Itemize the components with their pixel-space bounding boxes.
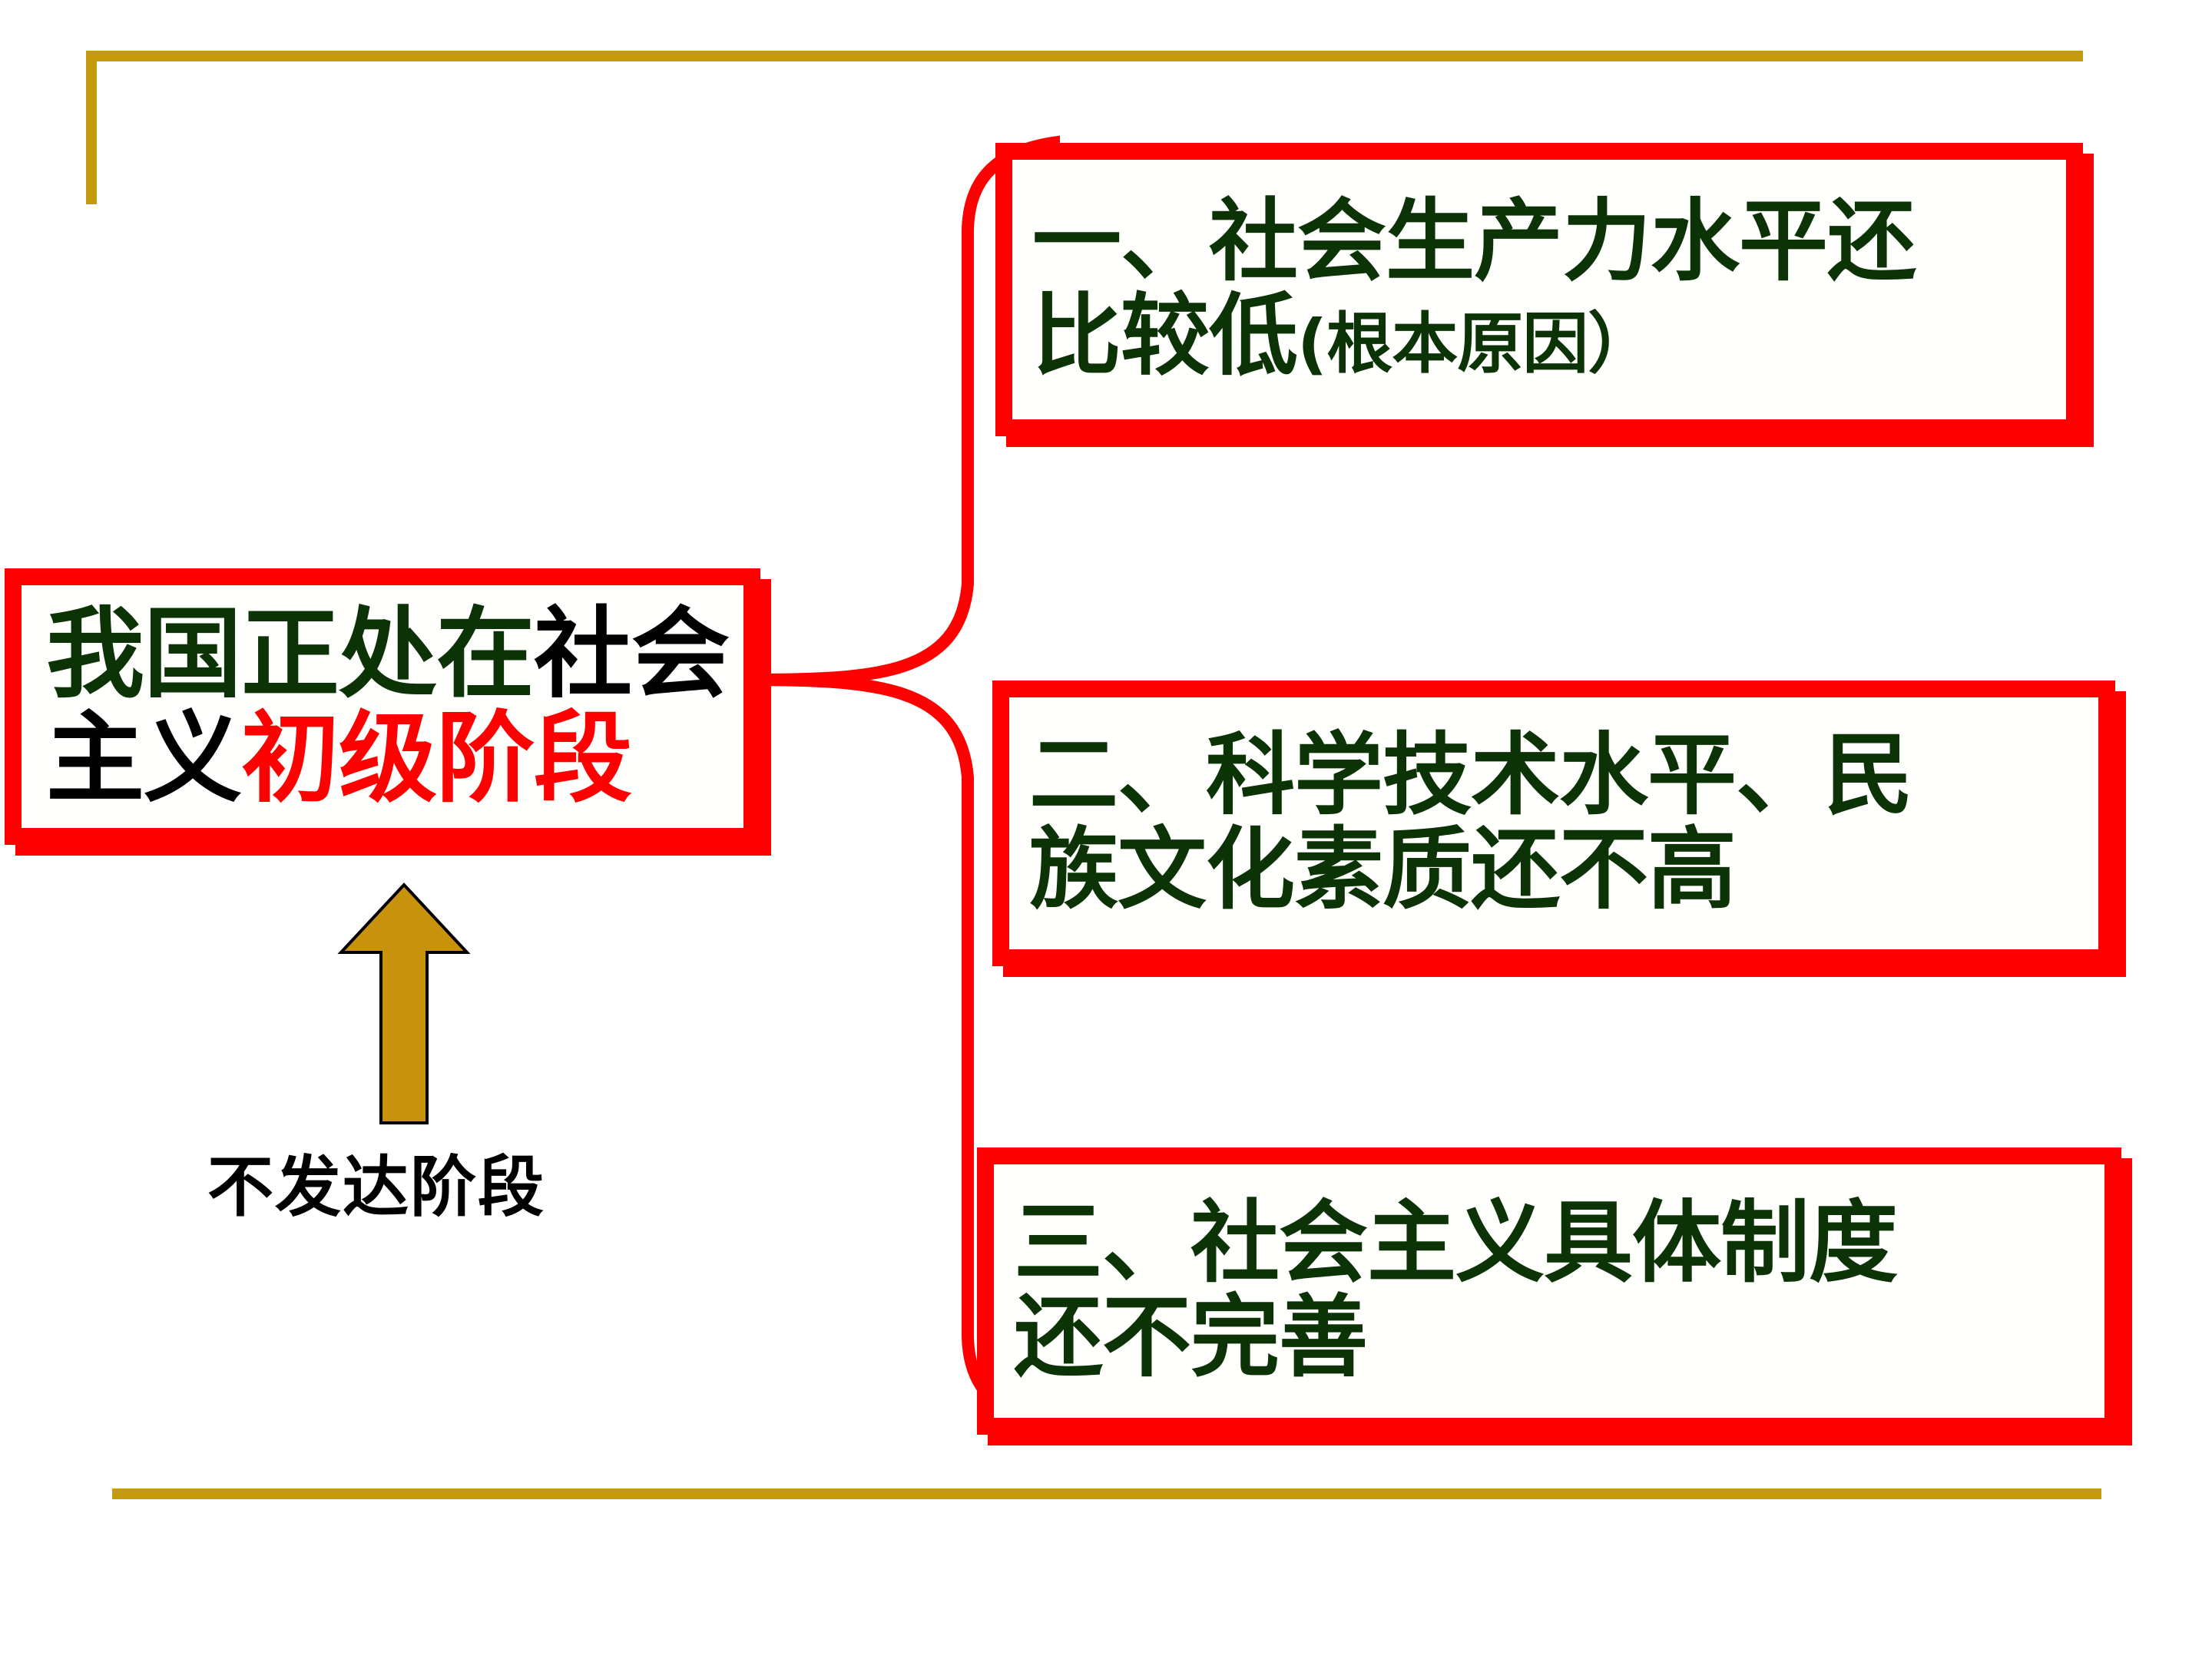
branch-1-line2-main: 比较低 [1032, 284, 1297, 388]
branch-2-line1: 二、科学技术水平、民 [1029, 724, 1912, 827]
slide-canvas: 我国正处在社会主义初级阶段 不发达阶段 一、社会生产力水平还比较低(根本原因） … [0, 0, 2212, 1659]
root-text-segment-green: 我国正处在 [46, 597, 534, 711]
root-text-segment-red: 初级阶段 [241, 701, 631, 816]
gold-top-rule [97, 51, 2083, 61]
root-concept-text: 我国正处在社会主义初级阶段 [46, 602, 733, 810]
branch-3-text: 三、社会主义具体制度还不完善 [1014, 1197, 2094, 1386]
gold-left-rule [86, 51, 97, 204]
up-arrow-icon [336, 882, 472, 1128]
root-text-segment-black-1: 社会 [534, 597, 729, 711]
arrow-caption-label: 不发达阶段 [207, 1133, 637, 1229]
gold-bottom-rule [112, 1488, 2101, 1499]
branch-3-line1: 三、社会主义具体制度 [1014, 1191, 1897, 1295]
root-text-segment-black-2: 主义 [46, 701, 241, 816]
branch-2-text: 二、科学技术水平、民族文化素质还不高 [1029, 729, 2088, 918]
branch-box-2[interactable]: 二、科学技术水平、民族文化素质还不高 [992, 680, 2115, 966]
branch-box-3[interactable]: 三、社会主义具体制度还不完善 [977, 1147, 2121, 1435]
root-concept-box[interactable]: 我国正处在社会主义初级阶段 [5, 568, 760, 845]
branch-1-text: 一、社会生产力水平还比较低(根本原因） [1032, 195, 2055, 384]
branch-box-1[interactable]: 一、社会生产力水平还比较低(根本原因） [995, 143, 2083, 436]
branch-1-line1: 一、社会生产力水平还 [1032, 190, 1916, 293]
branch-2-line2-main: 族文化素质还不高 [1029, 818, 1736, 922]
branch-1-line2-paren: (根本原因） [1297, 306, 1653, 382]
branch-3-line2-main: 还不完善 [1014, 1286, 1367, 1389]
